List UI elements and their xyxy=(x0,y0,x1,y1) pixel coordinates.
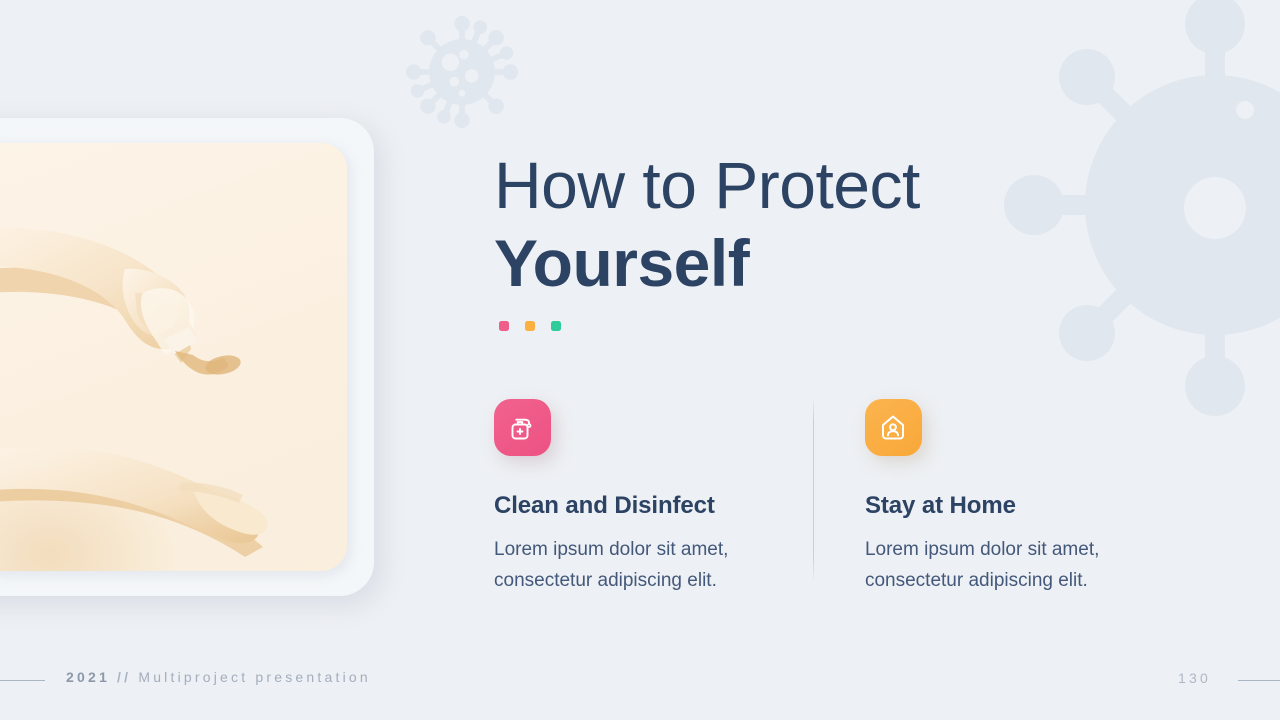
house-person-icon[interactable] xyxy=(865,399,922,456)
dot-pink xyxy=(499,321,509,331)
title-line-1: How to Protect xyxy=(494,146,1054,224)
feature-text: Lorem ipsum dolor sit amet, consectetur … xyxy=(494,534,764,596)
footer-rule-right xyxy=(1238,680,1280,681)
footer-rule-left xyxy=(0,680,45,681)
feature-text: Lorem ipsum dolor sit amet, consectetur … xyxy=(865,534,1135,596)
slide: How to Protect Yourself Clean and Disinf… xyxy=(0,0,1280,720)
page-title: How to Protect Yourself xyxy=(494,146,1054,302)
virus-small-icon xyxy=(404,14,520,130)
feature-title: Stay at Home xyxy=(865,492,1174,520)
accent-dots xyxy=(499,321,561,331)
footer-year: 2021 xyxy=(66,669,110,685)
feature-stay-at-home[interactable]: Stay at Home Lorem ipsum dolor sit amet,… xyxy=(823,399,1174,596)
feature-list: Clean and Disinfect Lorem ipsum dolor si… xyxy=(494,399,1174,596)
hand-sanitizer-icon[interactable] xyxy=(494,399,551,456)
title-line-2: Yourself xyxy=(494,224,1054,302)
page-number: 130 xyxy=(1178,670,1211,686)
hands-sanitizer-photo xyxy=(0,143,347,571)
footer-separator: // xyxy=(117,669,131,685)
dot-amber xyxy=(525,321,535,331)
photo-card xyxy=(0,118,374,596)
footer-presentation-name: Multiproject presentation xyxy=(138,669,371,685)
footer-caption: 2021 // Multiproject presentation xyxy=(66,669,371,685)
photo-frame xyxy=(0,143,347,571)
dot-green xyxy=(551,321,561,331)
feature-clean-and-disinfect[interactable]: Clean and Disinfect Lorem ipsum dolor si… xyxy=(494,399,823,596)
feature-title: Clean and Disinfect xyxy=(494,492,823,520)
